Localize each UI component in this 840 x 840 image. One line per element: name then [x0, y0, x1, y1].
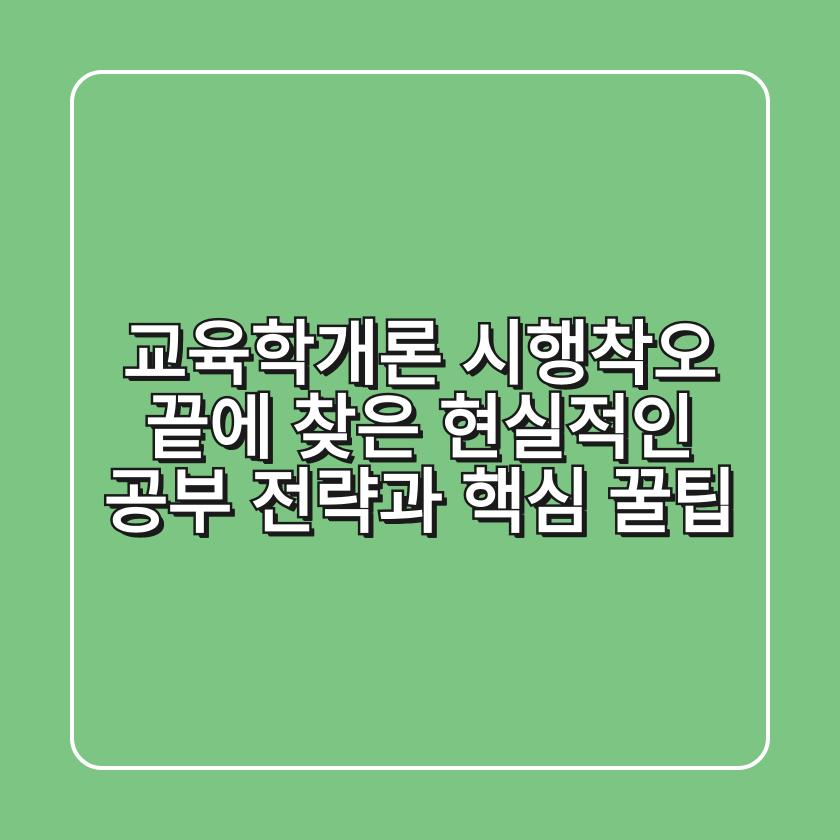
poster-canvas: 교육학개론 시행착오 끝에 찾은 현실적인 공부 전략과 핵심 꿀팁 — [0, 0, 840, 840]
headline-line-1: 교육학개론 시행착오 — [123, 317, 717, 391]
headline-line-2: 끝에 찾은 현실적인 — [145, 391, 694, 465]
headline-line-3: 공부 전략과 핵심 꿀팁 — [104, 465, 736, 539]
headline-block: 교육학개론 시행착오 끝에 찾은 현실적인 공부 전략과 핵심 꿀팁 — [0, 0, 840, 840]
